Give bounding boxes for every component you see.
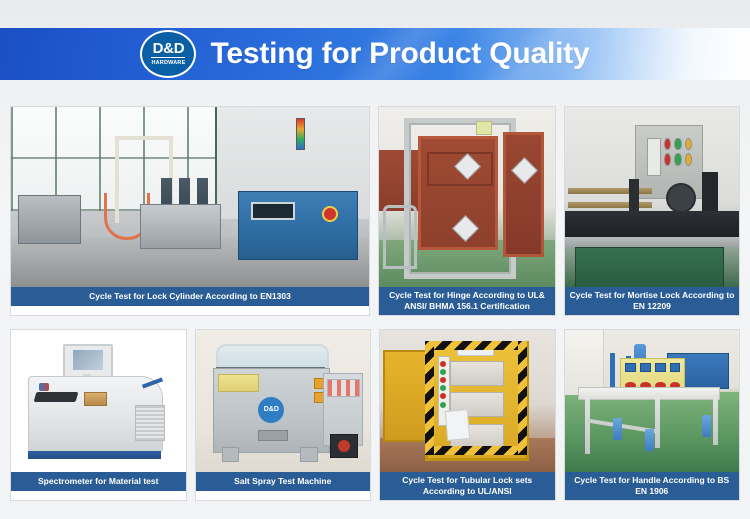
photo-lock-cylinder [11,107,369,287]
photo-grid: Cycle Test for Lock Cylinder According t… [10,106,740,501]
photo-spectrometer [11,330,186,472]
cabinet-leg-left [222,447,240,462]
chamber-drawer [258,430,288,441]
scene-lab-lock-cylinder [11,107,369,287]
logo-sub-text: HARDWARE [151,57,185,67]
photo-salt-spray: D&D [196,330,371,472]
main-dial [330,434,358,458]
trolley-cart [383,205,417,269]
scene-spectrometer [11,330,186,472]
machine-middle [140,204,221,249]
indicator-light [440,393,446,399]
card-lock-cylinder[interactable]: Cycle Test for Lock Cylinder According t… [10,106,370,316]
machine-blue-console [238,191,358,260]
meter [625,363,636,372]
hanging-weight-3 [702,415,711,437]
test-door-1 [450,361,504,386]
indicator-light [685,153,692,166]
caption-mortise-lock: Cycle Test for Mortise Lock According to… [565,287,739,315]
card-spectrometer[interactable]: Spectrometer for Material test [10,329,187,501]
meter [640,363,651,372]
bench-table-top [578,387,720,400]
table-leg-1 [585,397,590,454]
page-title: Testing for Product Quality [210,37,589,71]
guide-rail-2 [568,202,652,208]
instrument-base [28,451,161,460]
small-display-panel [647,138,661,176]
logo-main-text: D&D [153,41,185,56]
scene-tubular-lock-racks [380,330,555,472]
bench-top [565,211,739,236]
meter [655,363,666,372]
indicator-light [440,369,446,375]
indicator-light [664,153,671,166]
brand-mark [39,383,49,391]
card-handle[interactable]: Cycle Test for Handle According to BS EN… [564,329,741,501]
bench-apron [565,237,739,248]
hanging-weight-2 [645,429,654,451]
card-salt-spray[interactable]: D&D Salt Spray Test Machine [195,329,372,501]
warning-label [218,374,258,392]
caption-tubular-lock: Cycle Test for Tubular Lock sets Accordi… [380,472,555,500]
dd-hardware-logo: D&D HARDWARE [140,30,196,78]
card-hinge[interactable]: Cycle Test for Hinge According to UL& AN… [378,106,556,316]
drive-wheel [666,183,696,213]
indicator-light [664,138,671,151]
scene-mortise-bench [565,107,739,287]
header-content: D&D HARDWARE Testing for Product Quality [0,28,750,80]
info-label [476,121,492,135]
sample-holder [84,392,107,405]
clamp-block [629,179,639,213]
signal-tower-light [296,118,305,150]
indicator-light [674,153,681,166]
hazard-stripe-bottom [425,446,523,455]
hazard-stripe-left [425,341,434,455]
vent-grille [135,405,165,441]
indicator-light [440,385,446,391]
scene-hinge-rig [379,107,555,287]
keyboard [34,392,79,402]
guide-rail-1 [568,188,652,194]
indicator-light [674,138,681,151]
grid-row-1: Cycle Test for Lock Cylinder According t… [10,106,740,316]
caption-handle: Cycle Test for Handle According to BS EN… [565,472,740,500]
card-tubular-lock[interactable]: Cycle Test for Tubular Lock sets Accordi… [379,329,556,501]
hanging-weight-1 [613,418,622,440]
green-cabinet [575,247,723,287]
page-root: D&D HARDWARE Testing for Product Quality [0,0,750,519]
table-leg-3 [713,397,718,445]
scene-salt-spray-chamber: D&D [196,330,371,472]
indicator-light [685,138,692,151]
photo-tubular-lock [380,330,555,472]
hazard-stripe-right [518,341,527,455]
caption-salt-spray: Salt Spray Test Machine [196,472,371,491]
table-leg-2 [655,397,660,448]
meter [670,363,681,372]
caption-lock-cylinder: Cycle Test for Lock Cylinder According t… [11,287,369,306]
caption-spectrometer: Spectrometer for Material test [11,472,186,491]
machine-left [18,195,81,244]
photo-mortise-lock [565,107,739,287]
indicator-lights [664,138,692,167]
photo-handle [565,330,740,472]
test-record-sheet [445,409,470,441]
hazard-stripe-top [425,341,523,350]
photo-hinge [379,107,555,287]
indicator-light [440,402,446,408]
meter-row [625,363,680,372]
card-mortise-lock[interactable]: Cycle Test for Mortise Lock According to… [564,106,740,316]
page-header-banner: D&D HARDWARE Testing for Product Quality [0,28,750,80]
actuator-block [702,172,718,214]
grid-row-2: Spectrometer for Material test D&D [10,329,740,501]
test-door-secondary [503,132,544,257]
scene-handle-test-bench [565,330,740,472]
side-wall [565,330,604,395]
dd-badge: D&D [258,397,284,423]
indicator-light [440,377,446,383]
cabinet-leg-right [300,447,318,462]
indicator-light [440,361,446,367]
caption-hinge: Cycle Test for Hinge According to UL& AN… [379,287,555,315]
